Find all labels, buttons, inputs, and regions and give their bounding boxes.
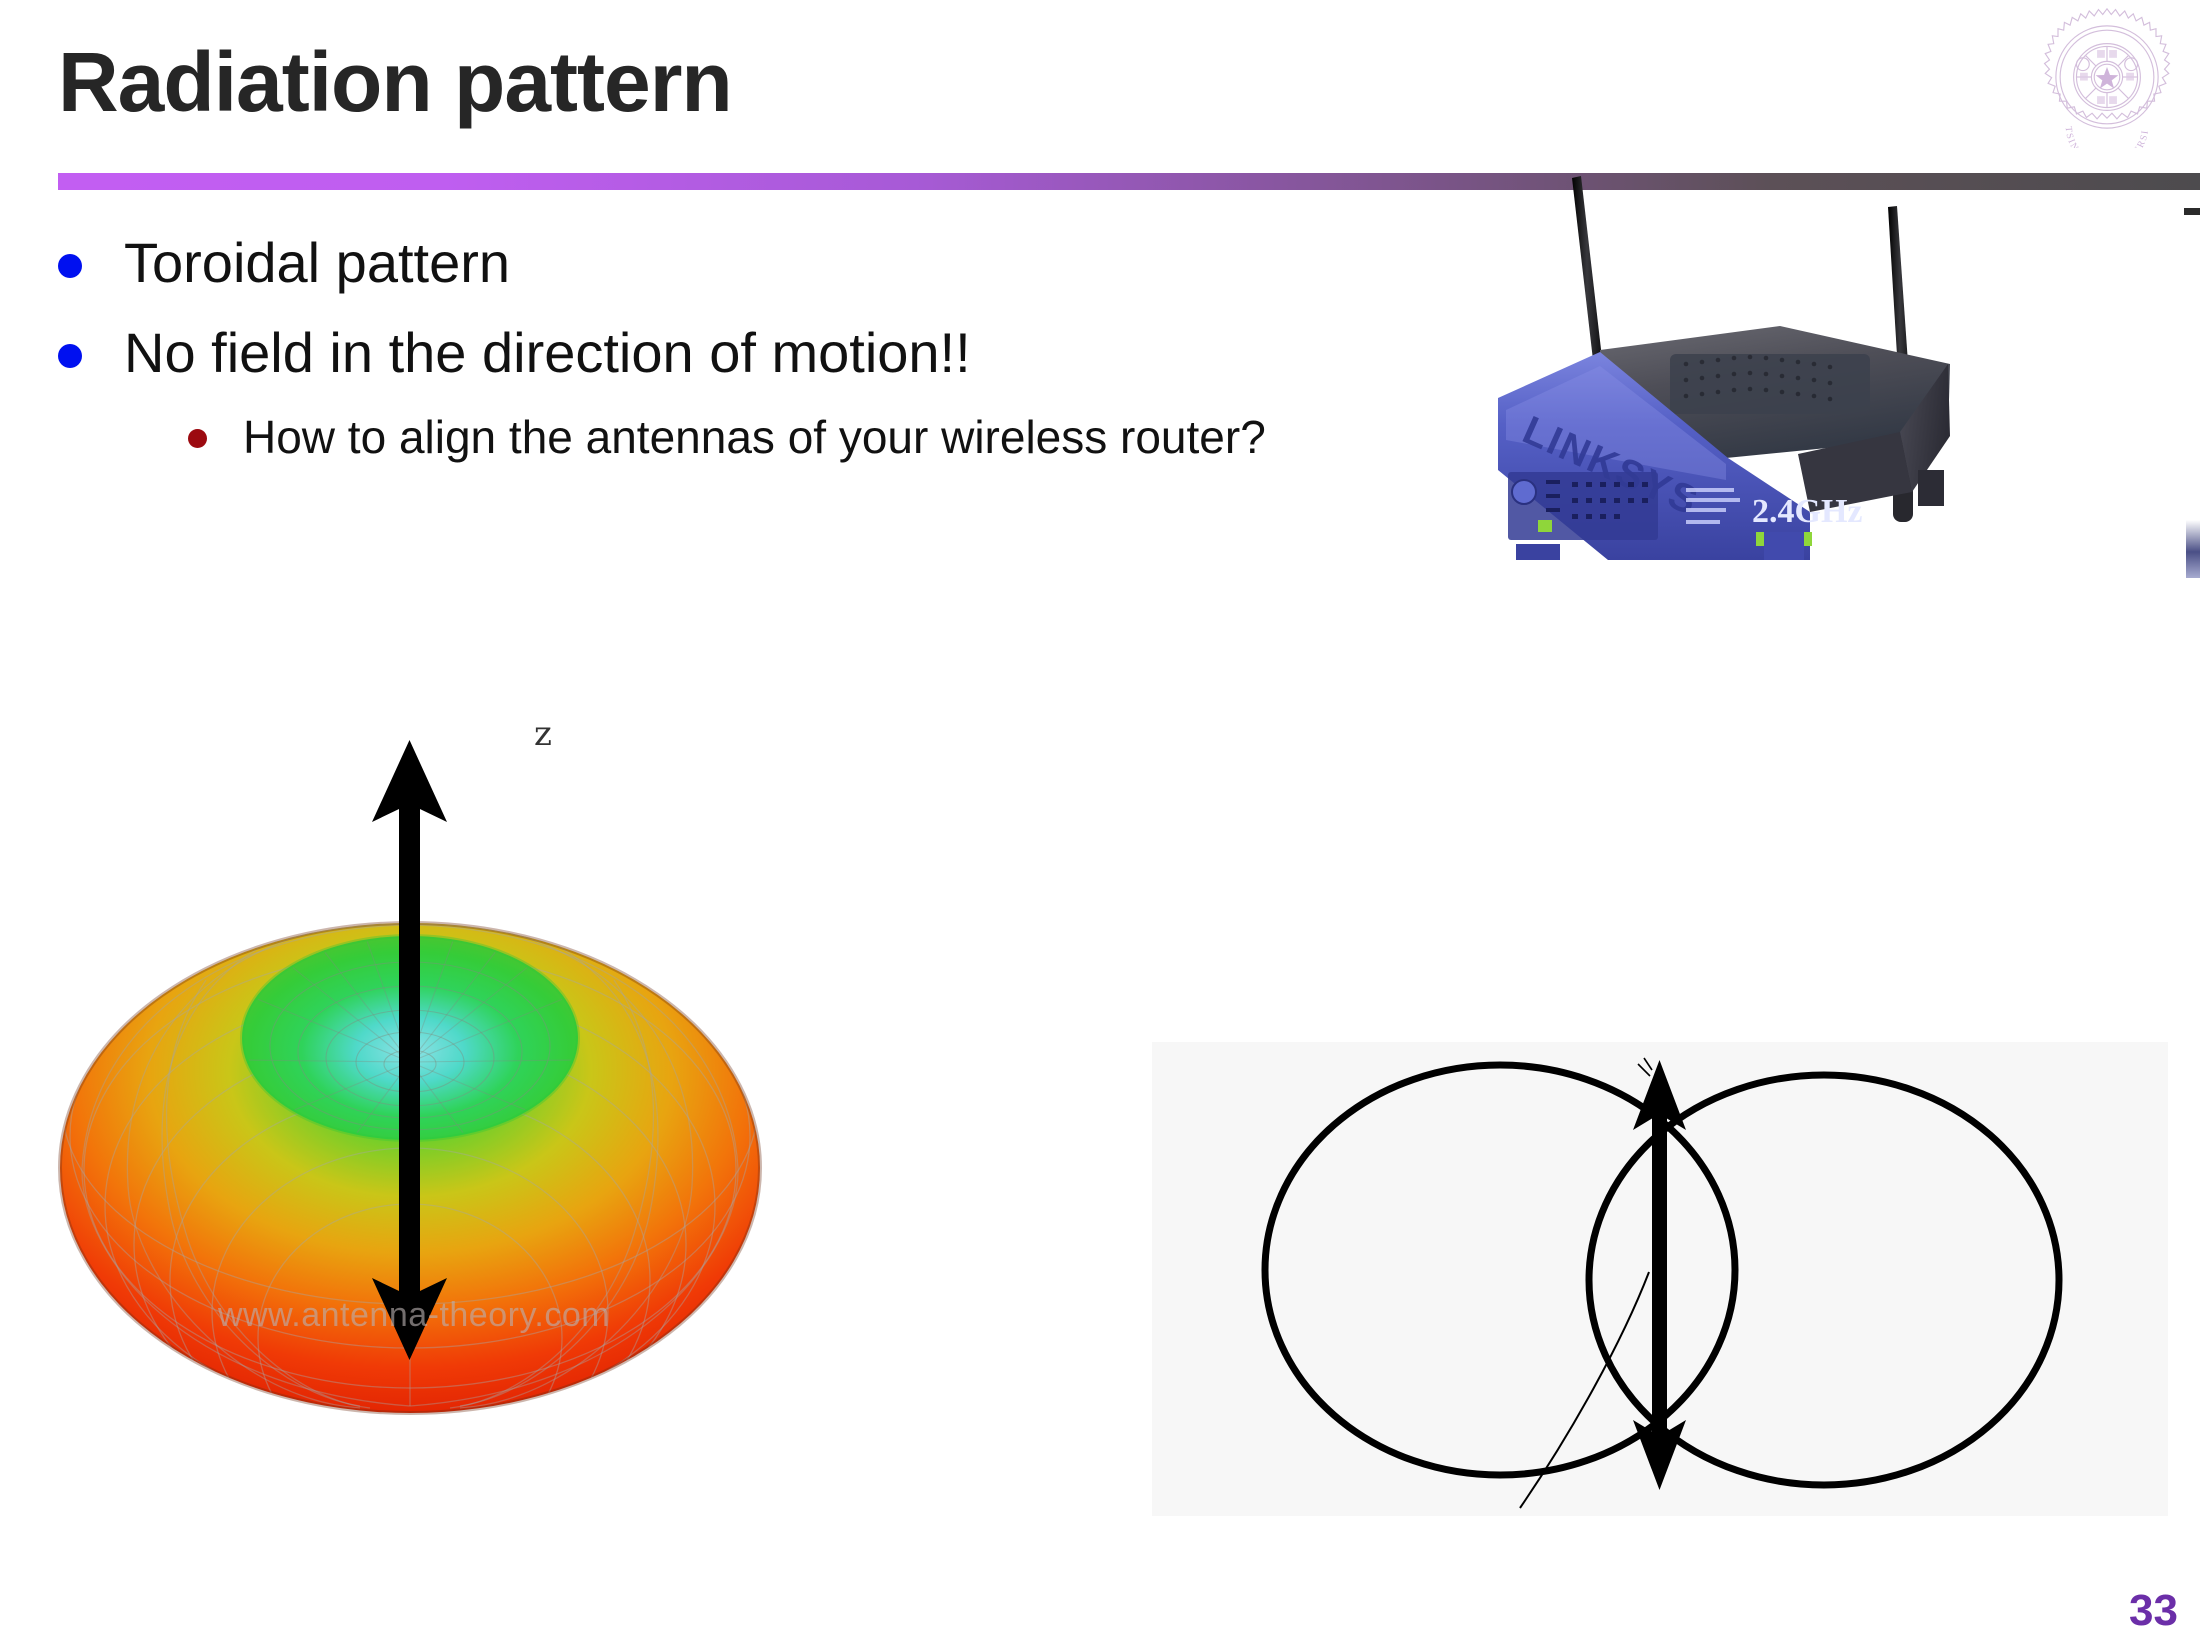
bullet-text: No field in the direction of motion!!: [124, 320, 971, 386]
list-item: No field in the direction of motion!!: [58, 320, 1508, 386]
list-item-sub: How to align the antennas of your wirele…: [188, 410, 1508, 464]
router-led-panel: [1508, 472, 1658, 540]
dipole-axis-arrow: [1633, 1060, 1686, 1490]
bullet-list: Toroidal pattern No field in the directi…: [58, 230, 1508, 474]
list-item: Toroidal pattern: [58, 230, 1508, 296]
antenna-left: [1572, 176, 1602, 360]
tsing-hua-university-seal-logo: TSING HUA UNIVERSITY: [2036, 6, 2178, 148]
page-number: 33: [2129, 1586, 2178, 1636]
linksys-router-image: LINKSYS: [1480, 140, 2170, 560]
cropped-image-fragment-right: [2186, 520, 2200, 578]
router-band-label: 2.4GHz: [1752, 493, 1862, 530]
sub-bullet-text: How to align the antennas of your wirele…: [243, 410, 1266, 464]
bullet-dot-icon: [58, 344, 82, 368]
router-vent-grid: [1670, 354, 1870, 414]
toroidal-radiation-pattern-figure: [30, 700, 790, 1600]
bullet-dot-icon: [58, 254, 82, 278]
dipole-pattern-figure: [1152, 1042, 2168, 1516]
dipole-tip-ticks: [1638, 1058, 1652, 1076]
bullet-text: Toroidal pattern: [124, 230, 510, 296]
sub-bullet-dot-icon: [188, 429, 207, 448]
z-axis-label: z: [534, 714, 552, 754]
cropped-image-fragment-top: [2184, 208, 2200, 215]
page-title: Radiation pattern: [58, 38, 732, 126]
